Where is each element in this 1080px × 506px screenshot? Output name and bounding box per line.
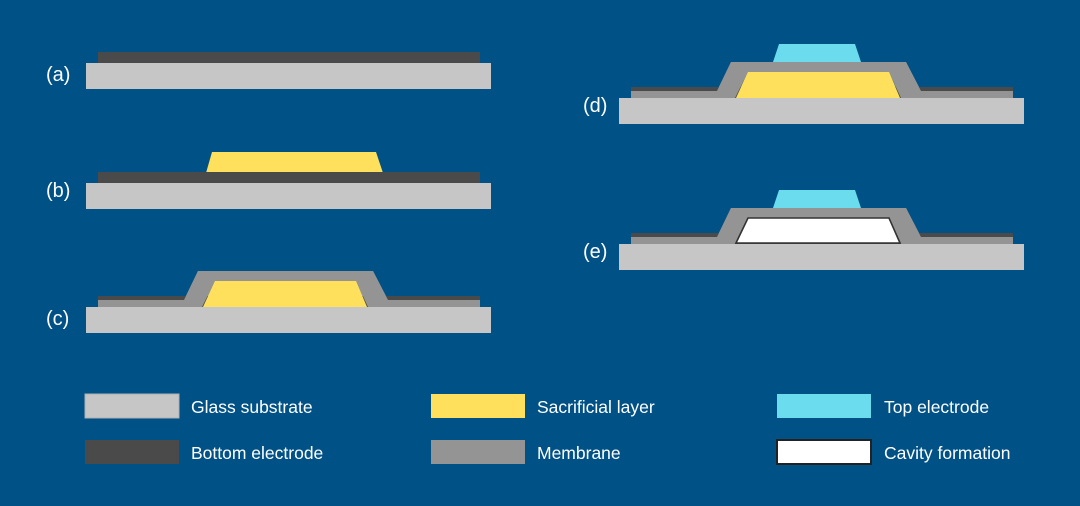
legend-swatch-bottom-electrode — [85, 440, 179, 464]
panel-e-label: (e) — [583, 241, 607, 263]
legend-label-cavity-formation: Cavity formation — [884, 443, 1010, 463]
legend-swatch-membrane — [431, 440, 525, 464]
legend-item-bottom-electrode: Bottom electrode — [85, 440, 323, 464]
legend-label-sacrificial-layer: Sacrificial layer — [537, 397, 655, 417]
legend-item-glass-substrate: Glass substrate — [85, 394, 313, 418]
panel-d-top-electrode — [773, 44, 861, 62]
panel-b-label: (b) — [46, 180, 70, 202]
panel-a-glass-substrate — [86, 63, 491, 89]
legend-swatch-cavity-formation — [777, 440, 871, 464]
legend-item-cavity-formation: Cavity formation — [777, 440, 1010, 464]
panel-a: (a) — [46, 52, 491, 89]
panel-e-glass-substrate — [619, 244, 1024, 270]
legend-item-sacrificial-layer: Sacrificial layer — [431, 394, 655, 418]
legend-swatch-top-electrode — [777, 394, 871, 418]
panel-d-glass-substrate — [619, 98, 1024, 124]
panel-b-sacrificial-layer — [206, 152, 383, 173]
legend-label-bottom-electrode: Bottom electrode — [191, 443, 323, 463]
panel-b-bottom-electrode — [98, 172, 480, 183]
process-flow-diagram: (a) (b) (c) (d) (e) — [0, 0, 1080, 506]
panel-e-cavity-front — [736, 218, 900, 243]
panel-c-label: (c) — [46, 308, 69, 330]
panel-d-label: (d) — [583, 95, 607, 117]
panel-d-sacrificial-front — [736, 72, 900, 98]
legend-swatch-glass-substrate — [85, 394, 179, 418]
panel-c-sacrificial-inner — [203, 281, 367, 307]
legend-item-top-electrode: Top electrode — [777, 394, 989, 418]
legend-label-glass-substrate: Glass substrate — [191, 397, 313, 417]
panel-c-glass-substrate — [86, 307, 491, 333]
panel-b-glass-substrate — [86, 183, 491, 209]
legend-label-membrane: Membrane — [537, 443, 621, 463]
panel-a-bottom-electrode — [98, 52, 480, 63]
legend-label-top-electrode: Top electrode — [884, 397, 989, 417]
panel-e-top-electrode — [773, 190, 861, 208]
legend-swatch-sacrificial-layer — [431, 394, 525, 418]
panel-a-label: (a) — [46, 64, 70, 86]
